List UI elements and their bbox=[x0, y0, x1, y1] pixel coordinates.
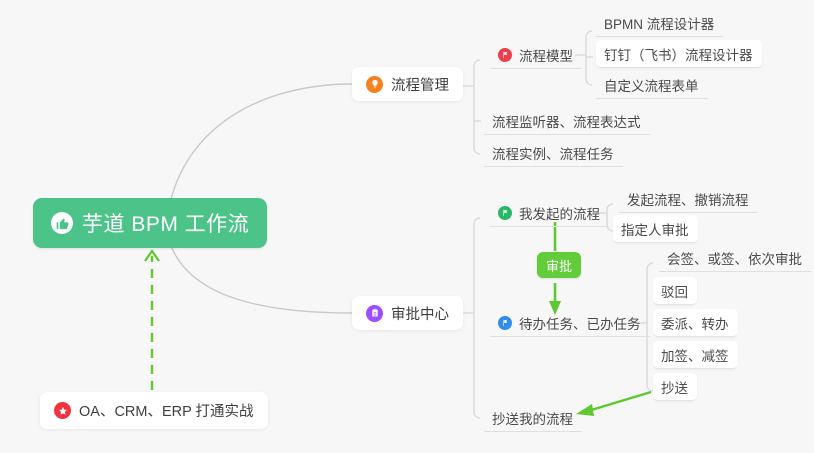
leaf-cc[interactable]: 抄送 bbox=[653, 373, 697, 401]
flag-green-icon bbox=[498, 206, 512, 220]
leaf-process-instance[interactable]: 流程实例、流程任务 bbox=[484, 139, 623, 167]
leaf-label: 指定人审批 bbox=[621, 219, 689, 239]
leaf-label: 流程实例、流程任务 bbox=[492, 143, 614, 163]
approval-tag-label: 审批 bbox=[546, 256, 572, 275]
note-label: OA、CRM、ERP 打通实战 bbox=[79, 400, 254, 421]
leaf-label: 驳回 bbox=[661, 281, 688, 301]
leaf-label: 加签、减签 bbox=[661, 345, 729, 365]
leaf-label: 自定义流程表单 bbox=[604, 75, 699, 95]
leaf-process-listener[interactable]: 流程监听器、流程表达式 bbox=[484, 107, 650, 135]
leaf-custom-form[interactable]: 自定义流程表单 bbox=[596, 71, 708, 99]
leaf-reject[interactable]: 驳回 bbox=[653, 277, 697, 305]
leaf-start-cancel-process[interactable]: 发起流程、撤销流程 bbox=[619, 185, 758, 213]
branch-process-management[interactable]: 流程管理 bbox=[352, 67, 463, 101]
root-label: 芋道 BPM 工作流 bbox=[82, 208, 249, 238]
root-node[interactable]: 芋道 BPM 工作流 bbox=[33, 198, 267, 248]
leaf-designated-approver[interactable]: 指定人审批 bbox=[613, 215, 698, 243]
lightbulb-icon bbox=[366, 76, 383, 93]
thumbs-up-icon bbox=[51, 212, 73, 234]
leaf-countersign[interactable]: 会签、或签、依次审批 bbox=[659, 244, 811, 272]
node-my-started-process[interactable]: 我发起的流程 bbox=[490, 199, 609, 227]
star-icon bbox=[54, 402, 71, 419]
leaf-cc-to-me[interactable]: 抄送我的流程 bbox=[484, 404, 582, 432]
leaf-label: 会签、或签、依次审批 bbox=[667, 248, 802, 268]
node-process-model[interactable]: 流程模型 bbox=[490, 41, 582, 69]
approval-tag: 审批 bbox=[537, 252, 581, 278]
node-label: 流程模型 bbox=[519, 45, 573, 65]
node-label: 我发起的流程 bbox=[519, 203, 600, 223]
leaf-label: 发起流程、撤销流程 bbox=[627, 189, 749, 209]
note-node[interactable]: OA、CRM、ERP 打通实战 bbox=[40, 392, 268, 429]
clipboard-icon bbox=[366, 305, 383, 322]
mindmap-canvas: 芋道 BPM 工作流 OA、CRM、ERP 打通实战 流程管理 流程模型 BPM… bbox=[0, 0, 814, 453]
node-todo-done-tasks[interactable]: 待办任务、已办任务 bbox=[490, 309, 650, 337]
leaf-delegate-transfer[interactable]: 委派、转办 bbox=[653, 309, 738, 337]
branch-approval-center[interactable]: 审批中心 bbox=[352, 296, 463, 330]
flag-red-icon bbox=[498, 48, 512, 62]
leaf-bpmn-designer[interactable]: BPMN 流程设计器 bbox=[596, 9, 723, 37]
branch-label: 流程管理 bbox=[391, 74, 449, 95]
branch-label: 审批中心 bbox=[391, 303, 449, 324]
leaf-label: 流程监听器、流程表达式 bbox=[492, 111, 641, 131]
leaf-label: 抄送 bbox=[661, 377, 688, 397]
leaf-dingtalk-designer[interactable]: 钉钉（飞书）流程设计器 bbox=[596, 40, 762, 68]
leaf-add-remove-sign[interactable]: 加签、减签 bbox=[653, 341, 738, 369]
flag-blue-icon bbox=[498, 316, 512, 330]
leaf-label: 钉钉（飞书）流程设计器 bbox=[604, 44, 753, 64]
node-label: 待办任务、已办任务 bbox=[519, 313, 641, 333]
leaf-label: 委派、转办 bbox=[661, 313, 729, 333]
leaf-label: BPMN 流程设计器 bbox=[604, 13, 714, 33]
leaf-label: 抄送我的流程 bbox=[492, 408, 573, 428]
